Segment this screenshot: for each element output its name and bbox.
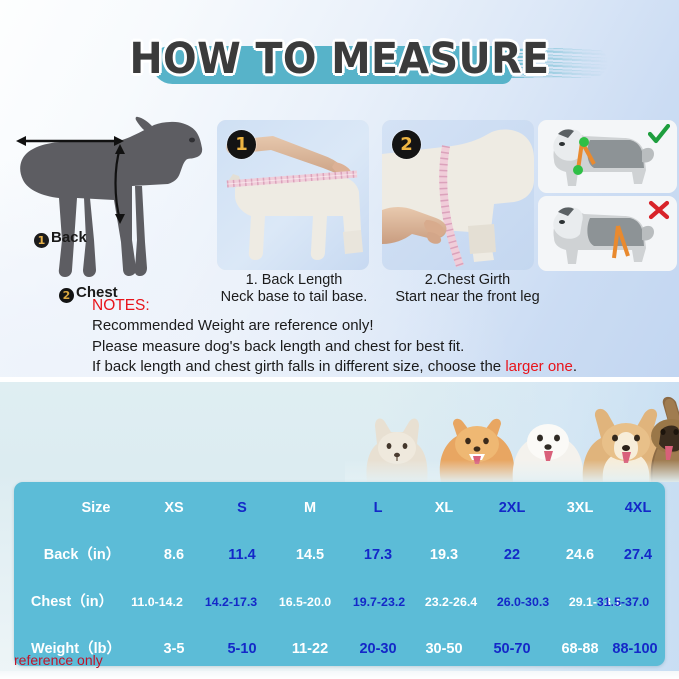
cell-weight-3xl: 68-88 [548, 628, 612, 670]
page-title: HOW TO MEASURE [27, 30, 652, 88]
fit-marker-bottom [573, 165, 583, 175]
row-label-chest: Chest（in） [16, 581, 128, 623]
cell-size-m: M [278, 487, 342, 529]
size-chart-table: Size XS S M L XL 2XL 3XL 4XL Back（in） 8.… [14, 482, 665, 666]
table-row-chest: Chest（in） 11.0-14.2 14.2-17.3 16.5-20.0 … [14, 581, 665, 623]
caption-back-length-line1: 1. Back Length [213, 272, 375, 289]
notes-block: NOTES: Recommended Weight are reference … [92, 296, 672, 378]
top-section: HOW TO MEASURE 1Back [0, 0, 679, 379]
notes-line-3-post: . [573, 358, 577, 375]
measurement-arrows [2, 110, 214, 285]
notes-line-1: Recommended Weight are reference only! [92, 316, 672, 337]
cell-size-xs: XS [142, 487, 206, 529]
cell-size-xl: XL [412, 487, 476, 529]
row-label-back: Back（in） [22, 534, 142, 576]
cross-icon [648, 200, 670, 220]
size-chart-page: HOW TO MEASURE 1Back [0, 0, 679, 679]
notes-line-3: If back length and chest girth falls in … [92, 357, 672, 378]
badge-1: 1 [34, 233, 49, 248]
title-banner: HOW TO MEASURE [0, 30, 679, 98]
cell-size-3xl: 3XL [548, 487, 612, 529]
step-badge-1: 1 [227, 130, 256, 159]
cell-weight-m: 11-22 [278, 628, 342, 670]
cell-weight-2xl: 50-70 [480, 628, 544, 670]
reference-only-note: reference only [14, 652, 103, 668]
cell-size-l: L [346, 487, 410, 529]
step-badge-2: 2 [392, 130, 421, 159]
bottom-strip [0, 671, 679, 679]
notes-line-3-highlight: larger one [505, 358, 573, 375]
dog-breed-photos [345, 386, 679, 482]
cell-back-s: 11.4 [210, 534, 274, 576]
dog-silhouette-diagram: 1Back 2Chest [2, 110, 214, 285]
badge-2: 2 [59, 288, 74, 303]
cell-back-2xl: 22 [480, 534, 544, 576]
notes-title: NOTES: [92, 296, 672, 316]
table-row-back: Back（in） 8.6 11.4 14.5 17.3 19.3 22 24.6… [14, 534, 665, 576]
notes-line-3-pre: If back length and chest girth falls in … [92, 358, 505, 375]
cell-weight-xs: 3-5 [142, 628, 206, 670]
row-label-size: Size [36, 487, 156, 529]
cell-back-3xl: 24.6 [548, 534, 612, 576]
table-row-size: Size XS S M L XL 2XL 3XL 4XL [14, 487, 665, 529]
cell-back-xs: 8.6 [142, 534, 206, 576]
cell-back-4xl: 27.4 [610, 534, 666, 576]
fit-marker-top [579, 137, 589, 147]
table-row-weight: Weight（lb） 3-5 5-10 11-22 20-30 30-50 50… [14, 628, 665, 670]
cell-weight-l: 20-30 [346, 628, 410, 670]
cell-back-xl: 19.3 [412, 534, 476, 576]
back-label: 1Back [34, 229, 87, 248]
back-label-text: Back [51, 229, 87, 246]
cell-size-2xl: 2XL [480, 487, 544, 529]
cell-back-m: 14.5 [278, 534, 342, 576]
cell-chest-4xl: 31.5-37.0 [580, 581, 666, 623]
check-icon [648, 124, 670, 144]
cell-size-4xl: 4XL [610, 487, 666, 529]
cell-weight-s: 5-10 [210, 628, 274, 670]
cell-back-l: 17.3 [346, 534, 410, 576]
dog-breed-row [345, 386, 679, 482]
cell-weight-4xl: 88-100 [604, 628, 666, 670]
caption-chest-girth-line1: 2.Chest Girth [380, 272, 555, 289]
cell-size-s: S [210, 487, 274, 529]
cell-weight-xl: 30-50 [412, 628, 476, 670]
notes-line-2: Please measure dog's back length and che… [92, 337, 672, 358]
